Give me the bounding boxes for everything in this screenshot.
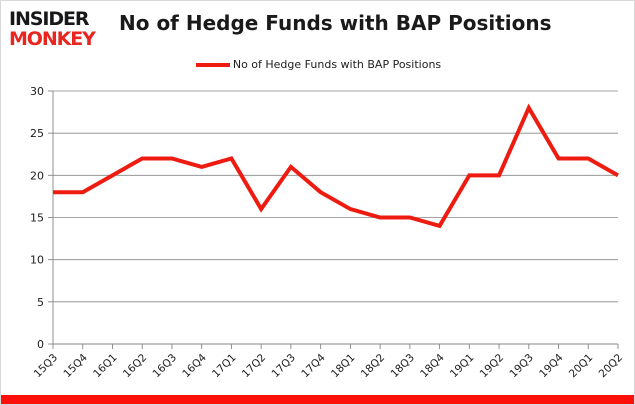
footer-accent-bar: [1, 395, 635, 404]
x-tick-label: 18Q2: [359, 352, 388, 381]
y-tick-label: 30: [30, 85, 44, 98]
x-tick-label: 20Q1: [567, 352, 596, 381]
x-tick-label: 19Q4: [537, 351, 566, 380]
x-tick-label: 16Q1: [91, 352, 120, 381]
x-tick-label: 17Q2: [240, 352, 269, 381]
y-axis-ticks-group: 051015202530: [30, 85, 53, 351]
y-tick-label: 0: [37, 338, 44, 351]
page-title: No of Hedge Funds with BAP Positions: [119, 11, 552, 35]
x-tick-label: 16Q4: [180, 351, 209, 380]
x-tick-label: 18Q4: [418, 351, 447, 380]
y-tick-label: 5: [37, 296, 44, 309]
y-tick-label: 20: [30, 169, 44, 182]
line-chart-svg: 051015202530 15Q315Q416Q116Q216Q316Q417Q…: [1, 79, 635, 389]
x-tick-label: 16Q2: [121, 352, 150, 381]
insider-monkey-logo: INSIDER MONKEY: [9, 9, 113, 49]
legend-color-swatch: [196, 63, 230, 67]
x-tick-label: 16Q3: [151, 352, 180, 381]
y-tick-label: 25: [30, 127, 44, 140]
y-tick-label: 10: [30, 254, 44, 267]
x-tick-label: 17Q3: [270, 352, 299, 381]
x-tick-label: 19Q1: [448, 352, 477, 381]
data-series-line: [53, 108, 618, 226]
x-tick-label: 18Q1: [329, 352, 358, 381]
gridlines-group: [53, 91, 618, 344]
x-tick-label: 20Q2: [597, 352, 626, 381]
legend-item-label: No of Hedge Funds with BAP Positions: [233, 58, 441, 71]
x-tick-label: 17Q4: [299, 351, 328, 380]
x-tick-label: 18Q3: [388, 352, 417, 381]
x-tick-label: 15Q4: [61, 351, 90, 380]
x-tick-label: 15Q3: [32, 352, 61, 381]
logo-text-monkey: MONKEY: [9, 29, 113, 49]
chart-legend: No of Hedge Funds with BAP Positions: [1, 58, 635, 71]
plot-area: 051015202530 15Q315Q416Q116Q216Q316Q417Q…: [1, 79, 635, 389]
chart-page: INSIDER MONKEY No of Hedge Funds with BA…: [0, 0, 635, 405]
x-axis-ticks-group: 15Q315Q416Q116Q216Q316Q417Q117Q217Q317Q4…: [32, 344, 626, 380]
x-tick-label: 17Q1: [210, 352, 239, 381]
y-tick-label: 15: [30, 212, 44, 225]
x-tick-label: 19Q2: [478, 352, 507, 381]
x-tick-label: 19Q3: [507, 352, 536, 381]
logo-text-insider: INSIDER: [9, 9, 113, 29]
